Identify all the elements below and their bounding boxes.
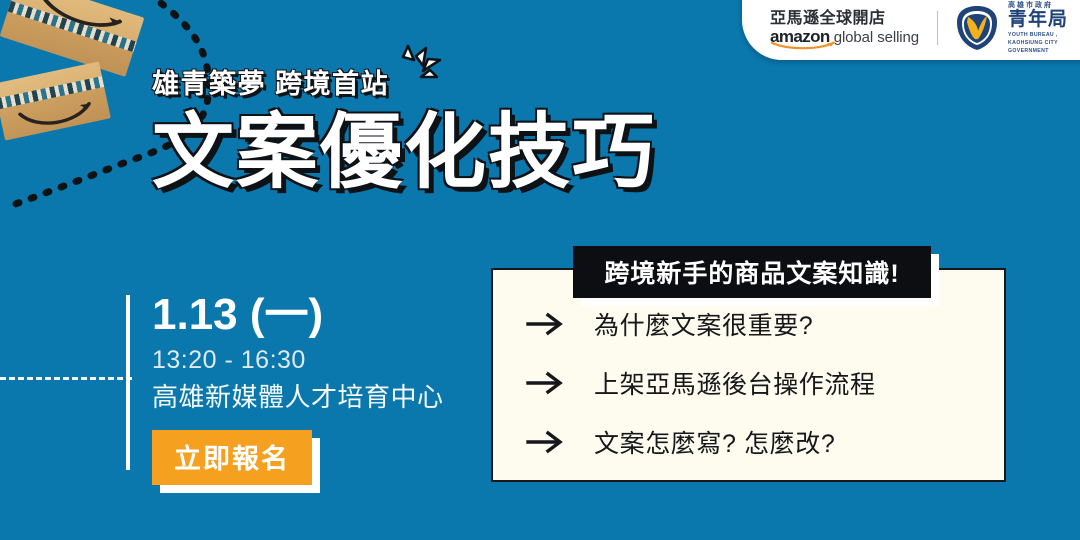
youth-bureau-text: 高雄市政府 青年局 YOUTH BUREAU , KAOHSIUNG CITY …	[1008, 0, 1068, 55]
amazon-parcel-box-icon	[0, 0, 144, 77]
list-item-label: 文案怎麼寫? 怎麼改?	[594, 424, 835, 460]
youth-bureau-name: 青年局	[1008, 10, 1068, 31]
youth-bureau-shield-icon	[954, 4, 1000, 52]
promo-banner: 亞馬遜全球開店 amazon global selling 高雄市政府	[0, 0, 1080, 540]
sparkle-burst-icon	[392, 44, 448, 98]
list-item-label: 為什麼文案很重要?	[594, 306, 813, 342]
amazon-tagline: global selling	[834, 30, 919, 45]
event-date: 1.13 (一)	[152, 292, 482, 338]
topics-badge-label: 跨境新手的商品文案知識!	[604, 254, 899, 290]
event-time: 13:20 - 16:30	[152, 346, 482, 375]
register-button[interactable]: 立即報名	[152, 430, 312, 485]
amazon-parcel-box-icon	[0, 61, 111, 140]
page-title: 文案優化技巧	[152, 107, 656, 199]
list-item: 文案怎麼寫? 怎麼改?	[526, 424, 996, 460]
topics-badge: 跨境新手的商品文案知識!	[573, 246, 931, 298]
dashed-white-line-icon	[0, 377, 132, 384]
arrow-right-icon	[526, 430, 564, 454]
list-item: 上架亞馬遜後台操作流程	[526, 365, 996, 401]
arrow-right-icon	[526, 312, 564, 336]
amazon-logo-english: amazon global selling	[770, 28, 919, 45]
list-item-label: 上架亞馬遜後台操作流程	[594, 365, 876, 401]
youth-bureau-logo: 高雄市政府 青年局 YOUTH BUREAU , KAOHSIUNG CITY …	[954, 0, 1068, 56]
amazon-logo-chinese: 亞馬遜全球開店	[770, 11, 886, 28]
logo-separator	[937, 11, 938, 45]
youth-bureau-english: YOUTH BUREAU , KAOHSIUNG CITY GOVERNMENT	[1008, 32, 1068, 55]
amazon-global-selling-logo: 亞馬遜全球開店 amazon global selling	[770, 0, 919, 45]
event-details: 1.13 (一) 13:20 - 16:30 高雄新媒體人才培育中心 立即報名	[152, 292, 482, 485]
sponsor-logo-panel: 亞馬遜全球開店 amazon global selling 高雄市政府	[742, 0, 1080, 60]
event-venue: 高雄新媒體人才培育中心	[152, 377, 482, 414]
amazon-smile-icon	[771, 41, 837, 50]
arrow-right-icon	[526, 371, 564, 395]
topics-list: 為什麼文案很重要? 上架亞馬遜後台操作流程 文案怎麼寫? 怎麼改?	[526, 306, 996, 460]
vertical-rule-icon	[126, 295, 130, 470]
list-item: 為什麼文案很重要?	[526, 306, 996, 342]
register-cta-wrapper: 立即報名	[152, 430, 312, 485]
